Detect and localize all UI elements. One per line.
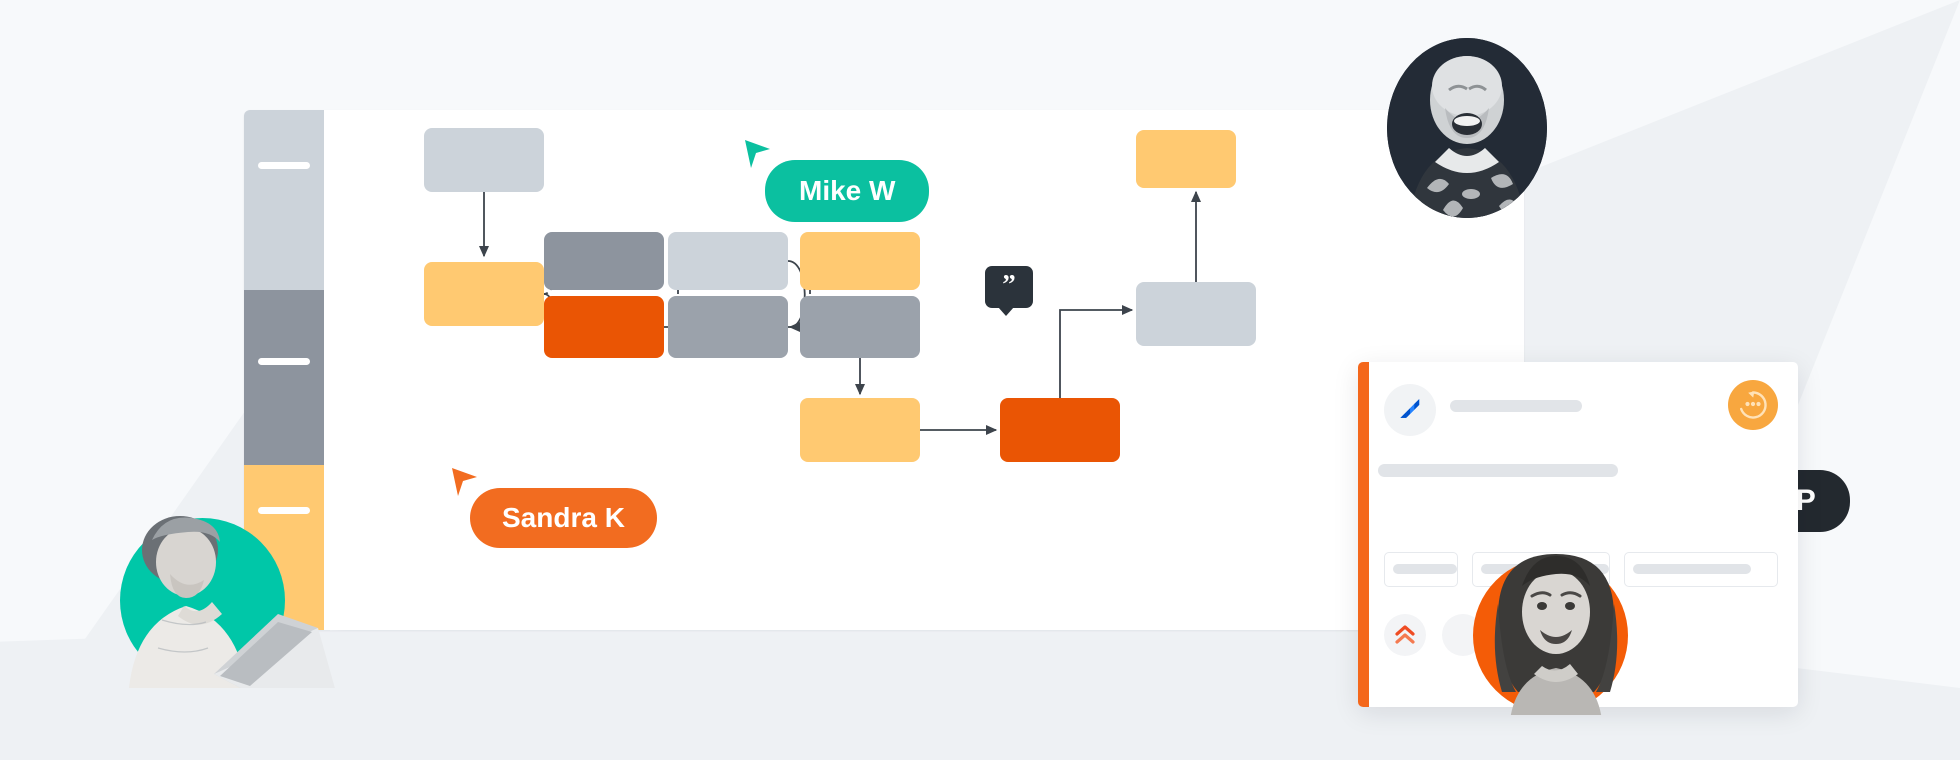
scene-root: ” Mike W Sandra K Sam P bbox=[0, 0, 1960, 760]
field-value-skeleton bbox=[1393, 564, 1457, 574]
node-start[interactable] bbox=[424, 128, 544, 192]
card-title-skeleton bbox=[1450, 400, 1582, 412]
rail-tick bbox=[258, 162, 310, 169]
node-branch-bottom[interactable] bbox=[544, 296, 664, 358]
node-queue[interactable] bbox=[800, 398, 920, 462]
cursor-pointer-icon bbox=[450, 466, 480, 498]
comment-badge[interactable]: ” bbox=[985, 266, 1033, 308]
node-approve[interactable] bbox=[800, 296, 920, 358]
card-description-skeleton bbox=[1378, 464, 1618, 477]
priority-highest-icon[interactable] bbox=[1384, 614, 1426, 656]
node-process-bottom[interactable] bbox=[668, 296, 788, 358]
node-review[interactable] bbox=[800, 232, 920, 290]
node-process-top[interactable] bbox=[668, 232, 788, 290]
jira-icon bbox=[1384, 384, 1436, 436]
rail-tick bbox=[258, 358, 310, 365]
node-input[interactable] bbox=[424, 262, 544, 326]
status-in-progress-icon[interactable] bbox=[1728, 380, 1778, 430]
node-reject[interactable] bbox=[1000, 398, 1120, 462]
jira-logo-glyph bbox=[1396, 396, 1424, 424]
cursor-label-mike[interactable]: Mike W bbox=[765, 160, 929, 222]
avatar-mike-photo bbox=[1387, 38, 1547, 218]
cursor-label-sandra[interactable]: Sandra K bbox=[470, 488, 657, 548]
cursor-label-text: Sandra K bbox=[470, 488, 657, 548]
avatar-mike[interactable] bbox=[1387, 38, 1547, 218]
avatar-sam-photo bbox=[1462, 520, 1652, 720]
card-accent-bar bbox=[1358, 362, 1369, 707]
refresh-dots-glyph bbox=[1736, 388, 1770, 422]
card-field-status[interactable] bbox=[1384, 552, 1458, 587]
avatar-sandra-photo bbox=[118, 470, 338, 700]
node-branch-top[interactable] bbox=[544, 232, 664, 290]
node-merge[interactable] bbox=[1136, 282, 1256, 346]
comment-quote-glyph: ” bbox=[1002, 271, 1016, 298]
cursor-pointer-icon bbox=[743, 138, 773, 170]
node-done[interactable] bbox=[1136, 130, 1236, 188]
rail-segment-grey[interactable] bbox=[244, 290, 324, 465]
cursor-label-text: Mike W bbox=[765, 160, 929, 222]
rail-segment-light[interactable] bbox=[244, 110, 324, 290]
double-chevron-up-glyph bbox=[1393, 623, 1417, 647]
